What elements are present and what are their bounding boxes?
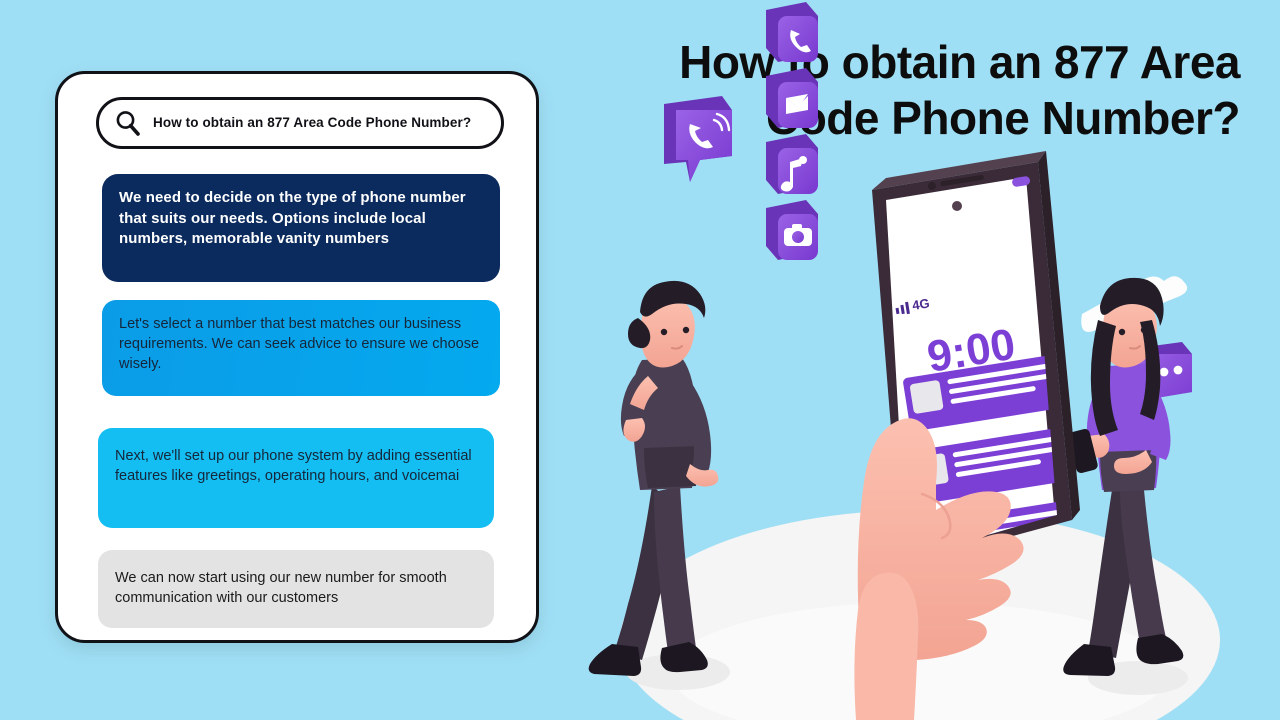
- hero-illustration: 4G 9:00: [560, 0, 1280, 720]
- search-icon: [113, 108, 143, 138]
- step-card-4[interactable]: We can now start using our new number fo…: [98, 550, 494, 628]
- step-card-4-text: We can now start using our new number fo…: [115, 568, 477, 608]
- chat-panel: How to obtain an 877 Area Code Phone Num…: [55, 71, 539, 643]
- step-card-1[interactable]: We need to decide on the type of phone n…: [102, 174, 500, 282]
- app-icon-envelope: [766, 68, 818, 128]
- app-icon-music-note: [766, 134, 818, 194]
- app-icon-camera: [766, 200, 818, 260]
- search-query-text: How to obtain an 877 Area Code Phone Num…: [153, 114, 471, 132]
- incoming-call-bubble-icon: [664, 96, 732, 182]
- step-card-3-text: Next, we'll set up our phone system by a…: [115, 446, 477, 486]
- search-input[interactable]: How to obtain an 877 Area Code Phone Num…: [96, 97, 504, 149]
- step-card-1-text: We need to decide on the type of phone n…: [119, 188, 483, 250]
- app-icon-phone: [766, 2, 818, 62]
- step-card-2[interactable]: Let's select a number that best matches …: [102, 300, 500, 396]
- step-card-2-text: Let's select a number that best matches …: [119, 314, 483, 374]
- svg-text:4G: 4G: [911, 295, 930, 313]
- step-card-3[interactable]: Next, we'll set up our phone system by a…: [98, 428, 494, 528]
